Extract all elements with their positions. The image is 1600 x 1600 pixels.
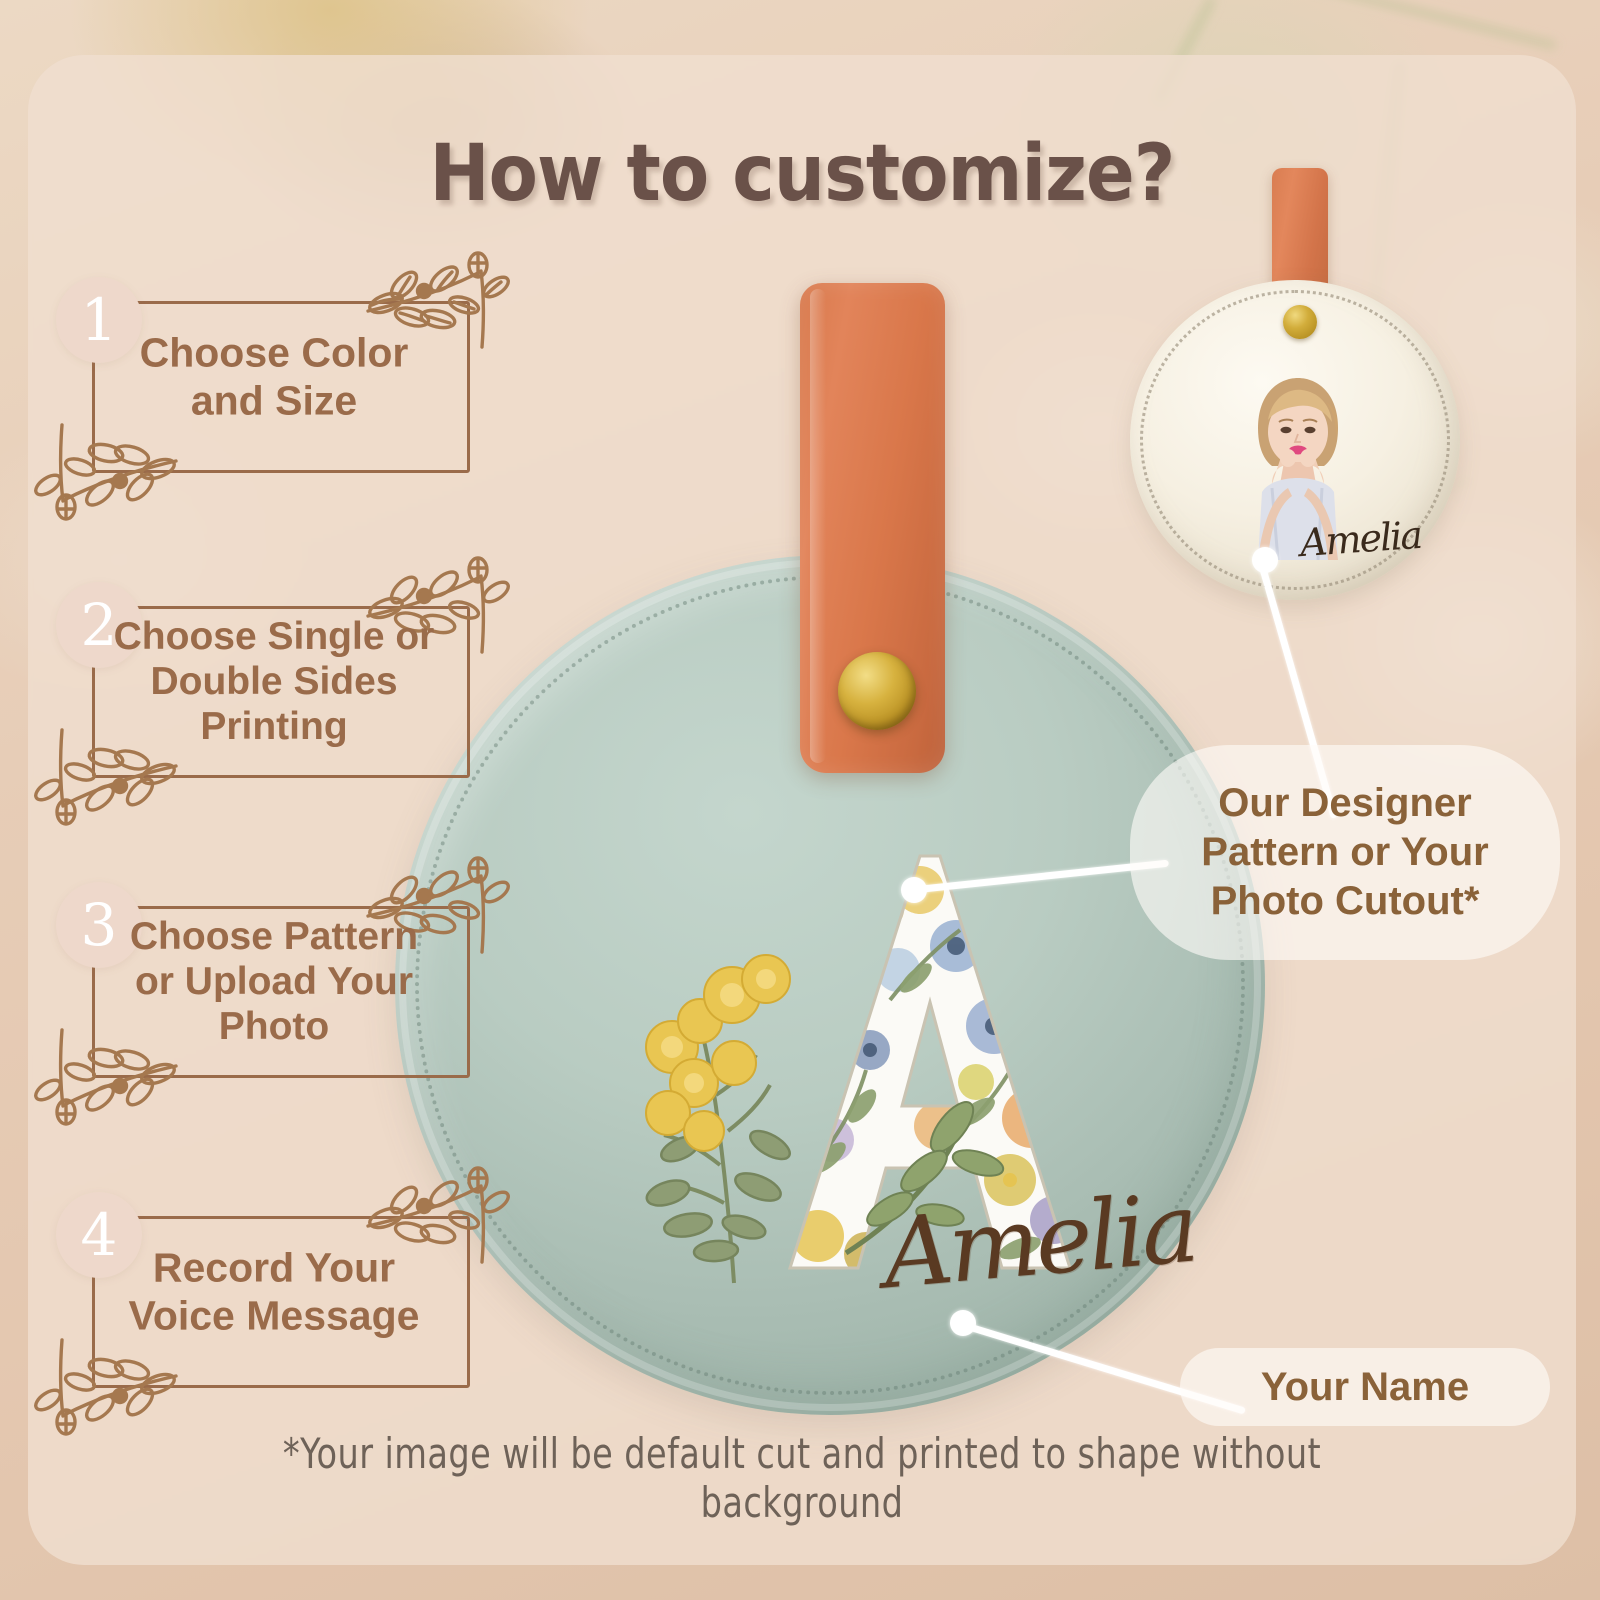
step-2: 2 Choose Single or Double Sides Printing <box>56 582 476 782</box>
step-1: 1 Choose Color and Size <box>56 277 476 477</box>
content-panel: How to customize? <box>28 55 1576 1565</box>
step-1-label: Choose Color and Size <box>96 329 452 424</box>
callout-pattern: Our Designer Pattern or Your Photo Cutou… <box>1130 745 1560 960</box>
footnote-disclaimer: *Your image will be default cut and prin… <box>183 1429 1421 1527</box>
leader-dot-photo <box>1252 547 1278 573</box>
step-4-label: Record Your Voice Message <box>96 1244 452 1339</box>
callout-your-name: Your Name <box>1180 1348 1550 1426</box>
step-3: 3 Choose Pattern or Upload Your Photo <box>56 882 476 1082</box>
step-2-label: Choose Single or Double Sides Printing <box>96 614 452 750</box>
engraved-name-secondary: Amelia <box>1299 513 1423 565</box>
step-4: 4 Record Your Voice Message <box>56 1192 476 1392</box>
leader-dot-pattern <box>901 877 927 903</box>
brass-rivet-main <box>838 652 916 730</box>
step-3-label: Choose Pattern or Upload Your Photo <box>96 914 452 1050</box>
callout-pattern-label: Our Designer Pattern or Your Photo Cutou… <box>1156 779 1534 925</box>
brass-rivet-secondary <box>1283 305 1317 339</box>
callout-name-label: Your Name <box>1261 1363 1469 1412</box>
leader-dot-name <box>950 1310 976 1336</box>
